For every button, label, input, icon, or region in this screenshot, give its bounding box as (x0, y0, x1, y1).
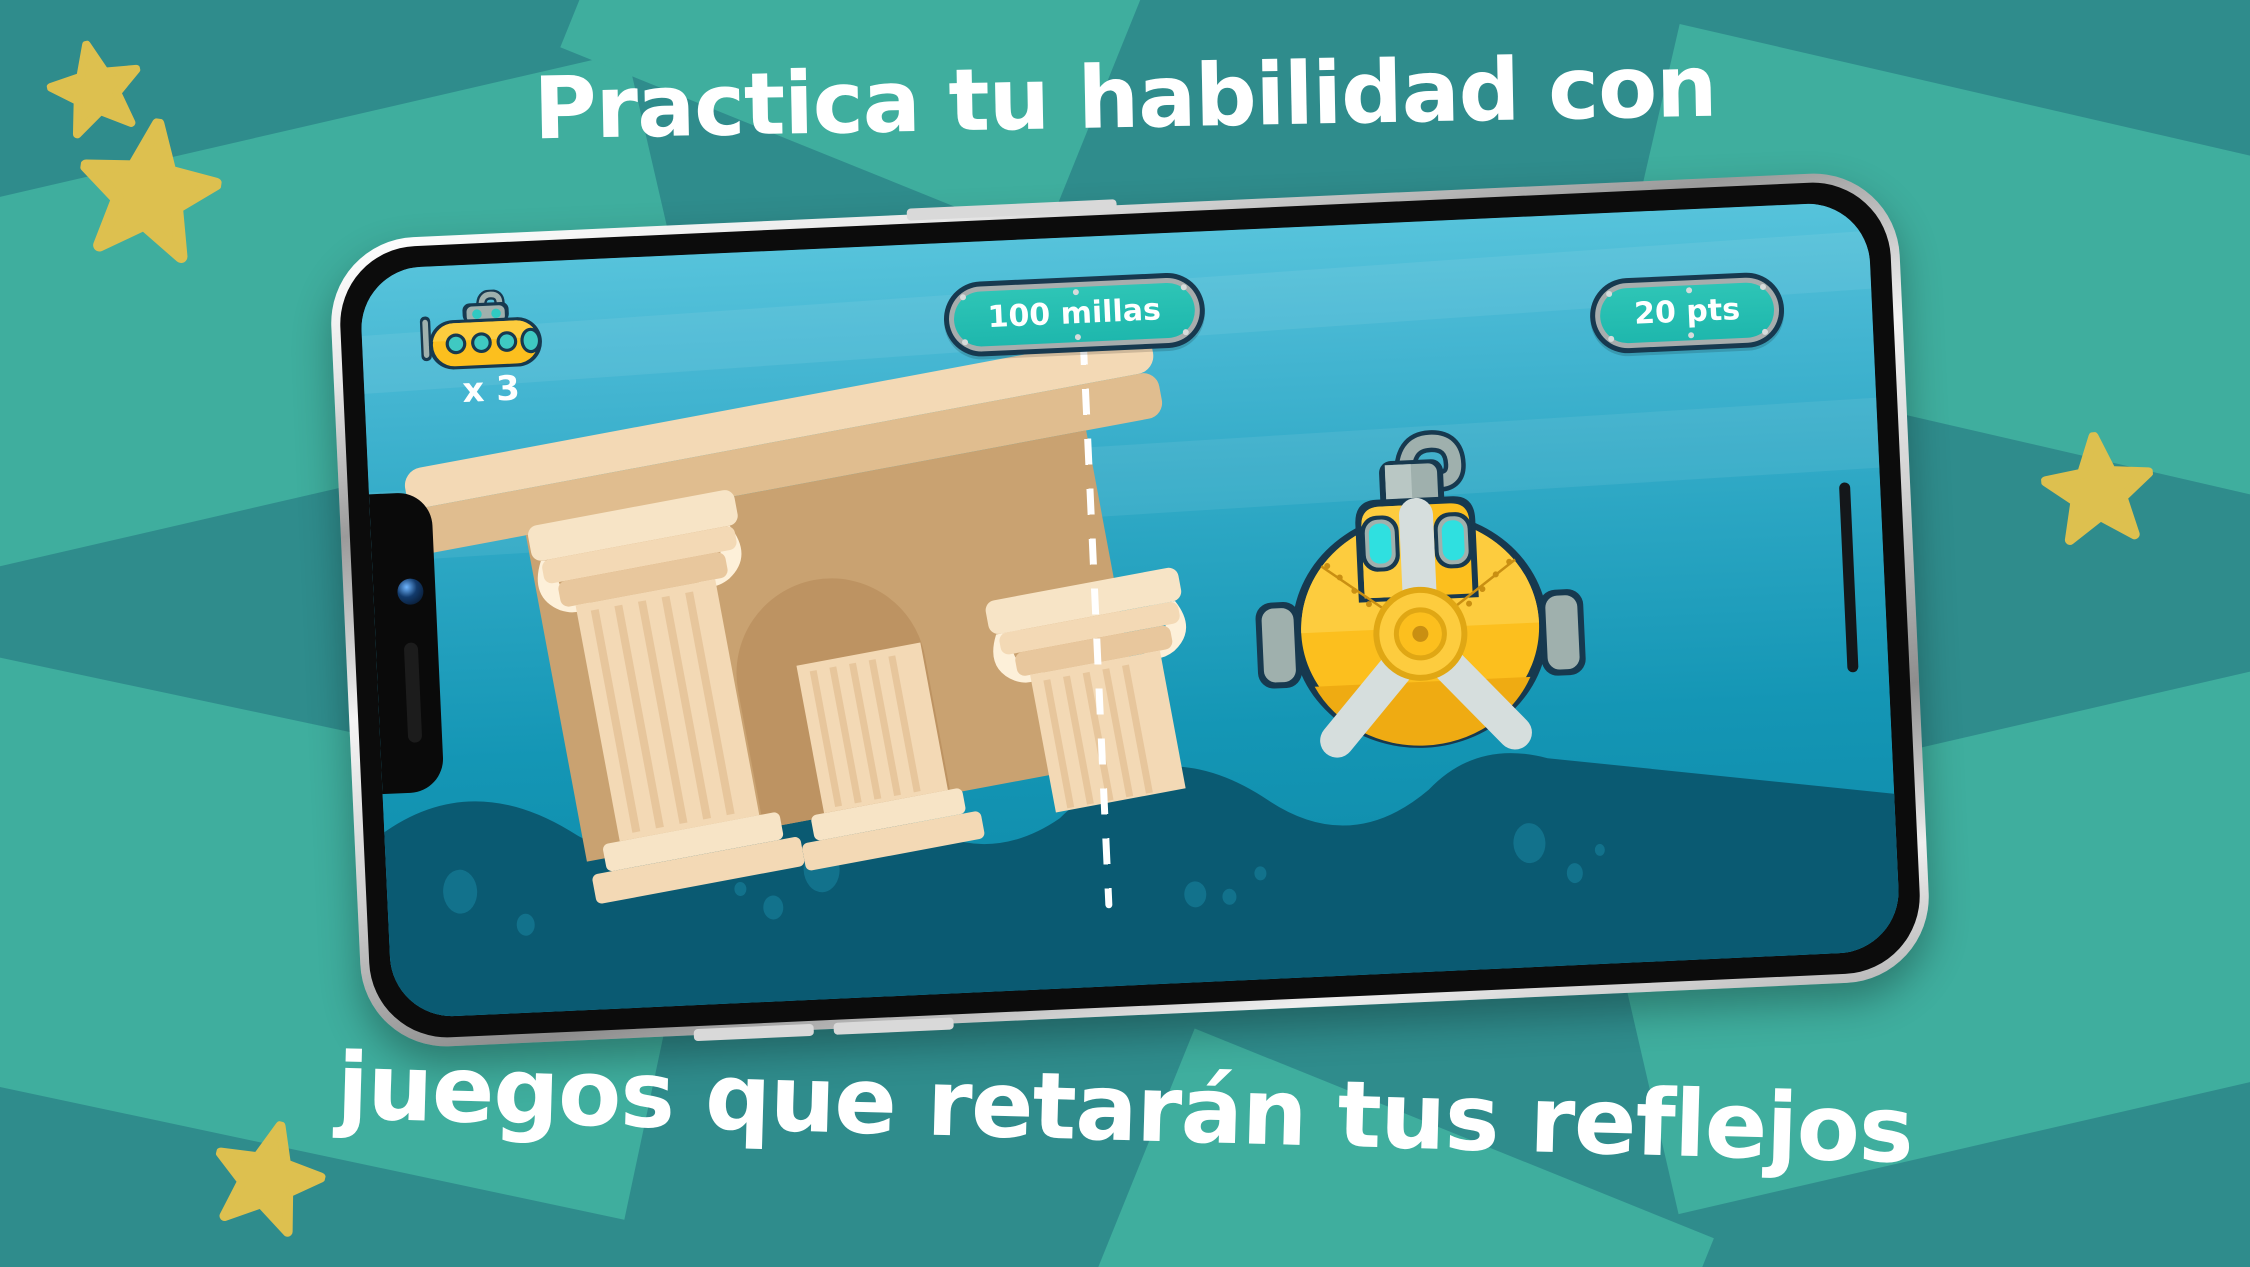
submarine-icon (404, 286, 568, 379)
rivet-icon (1075, 334, 1081, 340)
greek-temple-ruins (385, 326, 1250, 924)
yellow-submarine[interactable] (1242, 394, 1599, 799)
badge-rim: 20 pts (1594, 276, 1781, 349)
phone-mockup: x 3 100 millas (327, 170, 1932, 1050)
phone-screen[interactable]: x 3 100 millas (359, 201, 1901, 1019)
phone-notch (367, 492, 445, 795)
lives-indicator: x 3 (404, 285, 599, 413)
rivet-icon (1183, 329, 1189, 335)
rivet-icon (962, 339, 968, 345)
rivet-icon (1608, 336, 1614, 342)
distance-badge: 100 millas (942, 271, 1206, 358)
rivet-icon (1073, 289, 1079, 295)
points-badge: 20 pts (1589, 271, 1786, 355)
front-camera-icon (397, 578, 424, 605)
headline-top: Practica tu habilidad con (0, 26, 2250, 169)
promo-banner: Practica tu habilidad con (0, 0, 2250, 1267)
lives-count-label: x 3 (461, 365, 599, 411)
earpiece-speaker-icon (404, 642, 423, 743)
badge-rim: 100 millas (947, 277, 1201, 353)
headline-bottom: juegos que retarán tus reflejos (0, 1024, 2250, 1194)
rivet-icon (1181, 284, 1187, 290)
phone-body: x 3 100 millas (337, 179, 1923, 1041)
star-icon (2037, 427, 2158, 548)
rivet-icon (1762, 329, 1768, 335)
